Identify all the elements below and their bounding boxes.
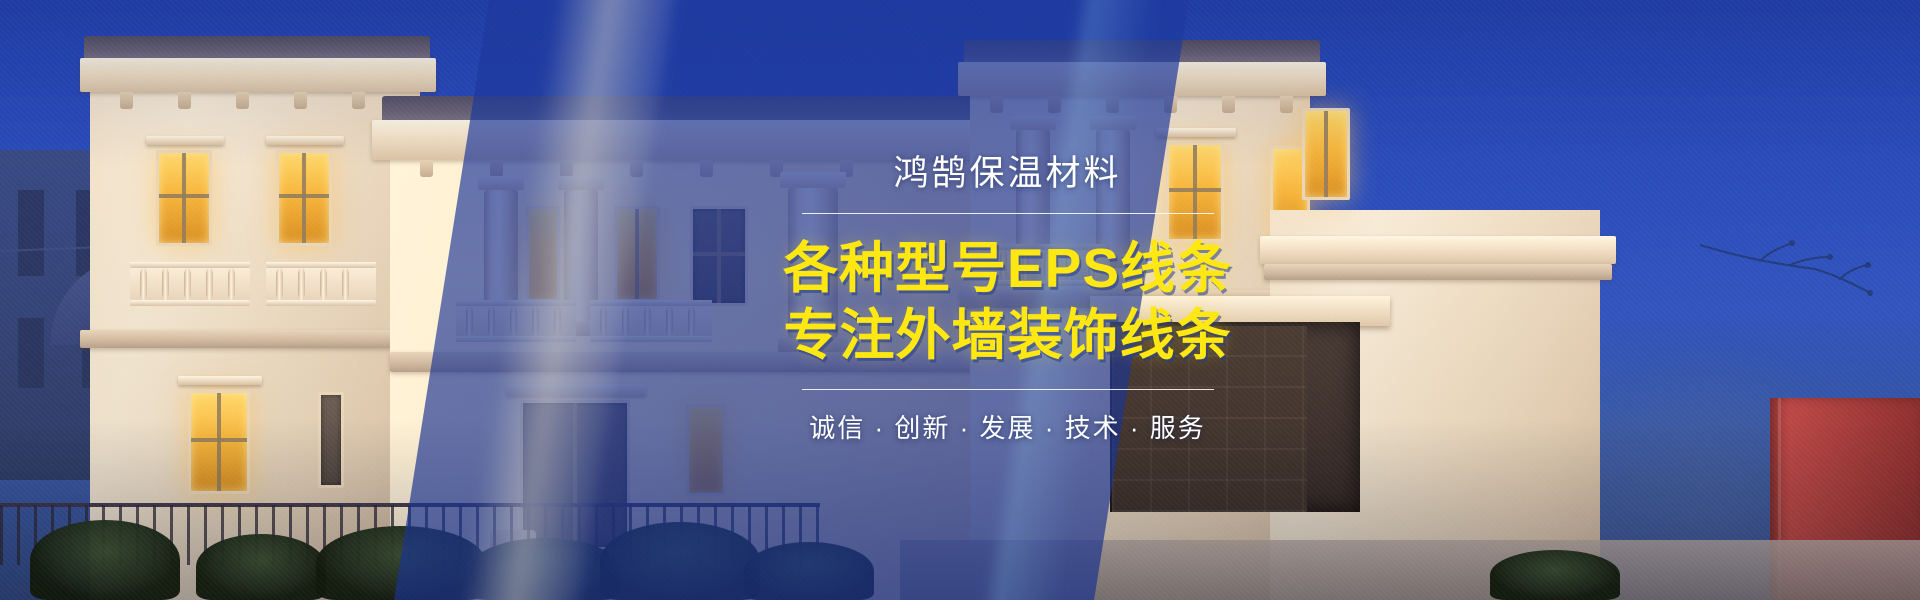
brand-name: 鸿鹄保温材料 xyxy=(893,155,1121,194)
promo-banner: 鸿鹄保温材料 各种型号EPS线条 专注外墙装饰线条 诚信 · 创新 · 发展 ·… xyxy=(0,0,1920,600)
headline-line-1: 各种型号EPS线条 xyxy=(783,238,1232,300)
text-stack: 鸿鹄保温材料 各种型号EPS线条 专注外墙装饰线条 诚信 · 创新 · 发展 ·… xyxy=(788,155,1228,445)
divider-top xyxy=(802,213,1214,214)
tagline: 诚信 · 创新 · 发展 · 技术 · 服务 xyxy=(809,408,1205,445)
divider-bottom xyxy=(802,389,1214,390)
headline-line-2: 专注外墙装饰线条 xyxy=(784,305,1232,367)
banner-content: 鸿鹄保温材料 各种型号EPS线条 专注外墙装饰线条 诚信 · 创新 · 发展 ·… xyxy=(0,0,1920,600)
